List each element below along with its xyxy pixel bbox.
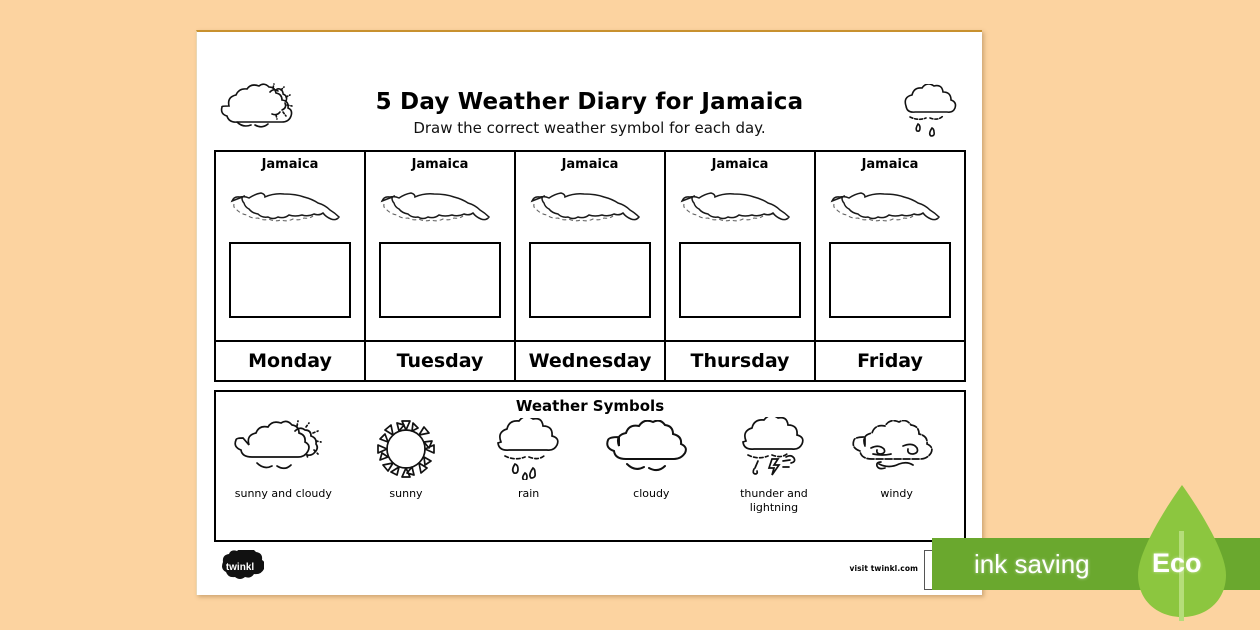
twinkl-logo[interactable]: twinkl	[216, 550, 264, 588]
symbol-rain[interactable]: rain	[473, 417, 585, 501]
eco-badge-leaf-text: Eco	[1152, 548, 1202, 579]
weather-symbols-row: sunny and cloudy sunny	[216, 415, 964, 515]
thunder-lightning-cloud-icon	[728, 417, 820, 481]
symbol-thunder-and-lightning[interactable]: thunder and lightning	[718, 417, 830, 515]
symbol-label: thunder and lightning	[718, 487, 830, 515]
country-label: Jamaica	[216, 152, 364, 172]
symbol-label: cloudy	[633, 487, 669, 501]
day-column-thursday: Jamaica Thursday	[666, 152, 816, 380]
country-label: Jamaica	[366, 152, 514, 172]
drawing-box-wednesday[interactable]	[529, 242, 651, 318]
jamaica-map-outline	[516, 174, 664, 236]
day-label-tuesday: Tuesday	[366, 340, 514, 380]
drawing-box-thursday[interactable]	[679, 242, 801, 318]
symbol-sunny[interactable]: sunny	[350, 417, 462, 501]
eco-badge-text: ink saving	[974, 549, 1090, 580]
jamaica-map-outline	[816, 174, 964, 236]
jamaica-map-outline	[216, 174, 364, 236]
sun-icon	[374, 417, 438, 481]
jamaica-map-outline	[366, 174, 514, 236]
jamaica-map-outline	[666, 174, 814, 236]
rain-cloud-icon	[483, 417, 575, 481]
drawing-box-friday[interactable]	[829, 242, 951, 318]
symbol-windy[interactable]: windy	[841, 417, 953, 501]
worksheet-footer: twinkl visit twinkl.com twinkl	[214, 548, 966, 590]
page-subtitle: Draw the correct weather symbol for each…	[197, 119, 982, 137]
worksheet-page: 5 Day Weather Diary for Jamaica Draw the…	[196, 30, 982, 595]
visit-link[interactable]: visit twinkl.com	[849, 564, 918, 573]
windy-cloud-icon	[849, 417, 945, 481]
symbol-label: sunny and cloudy	[235, 487, 332, 501]
symbol-label: rain	[518, 487, 539, 501]
day-label-monday: Monday	[216, 340, 364, 380]
country-label: Jamaica	[516, 152, 664, 172]
day-label-wednesday: Wednesday	[516, 340, 664, 380]
day-column-friday: Jamaica Friday	[816, 152, 964, 380]
day-column-monday: Jamaica Monday	[216, 152, 366, 380]
weather-diary-grid: Jamaica Monday Jamaica Tuesday	[214, 150, 966, 382]
drawing-box-monday[interactable]	[229, 242, 351, 318]
symbol-cloudy[interactable]: cloudy	[595, 417, 707, 501]
symbol-label: windy	[880, 487, 913, 501]
day-column-tuesday: Jamaica Tuesday	[366, 152, 516, 380]
weather-symbols-panel: Weather Symbols sunny and cloudy	[214, 390, 966, 542]
drawing-box-tuesday[interactable]	[379, 242, 501, 318]
day-label-thursday: Thursday	[666, 340, 814, 380]
country-label: Jamaica	[816, 152, 964, 172]
symbol-sunny-and-cloudy[interactable]: sunny and cloudy	[227, 417, 339, 501]
worksheet-header: 5 Day Weather Diary for Jamaica Draw the…	[197, 32, 982, 144]
symbol-label: sunny	[389, 487, 422, 501]
page-title: 5 Day Weather Diary for Jamaica	[197, 89, 982, 115]
country-label: Jamaica	[666, 152, 814, 172]
cloud-icon	[603, 417, 699, 481]
day-label-friday: Friday	[816, 340, 964, 380]
twinkl-logo-text: twinkl	[226, 562, 255, 573]
rain-cloud-icon	[892, 84, 964, 146]
weather-symbols-title: Weather Symbols	[216, 392, 964, 415]
sun-behind-cloud-icon	[233, 417, 333, 481]
day-column-wednesday: Jamaica Wednesday	[516, 152, 666, 380]
